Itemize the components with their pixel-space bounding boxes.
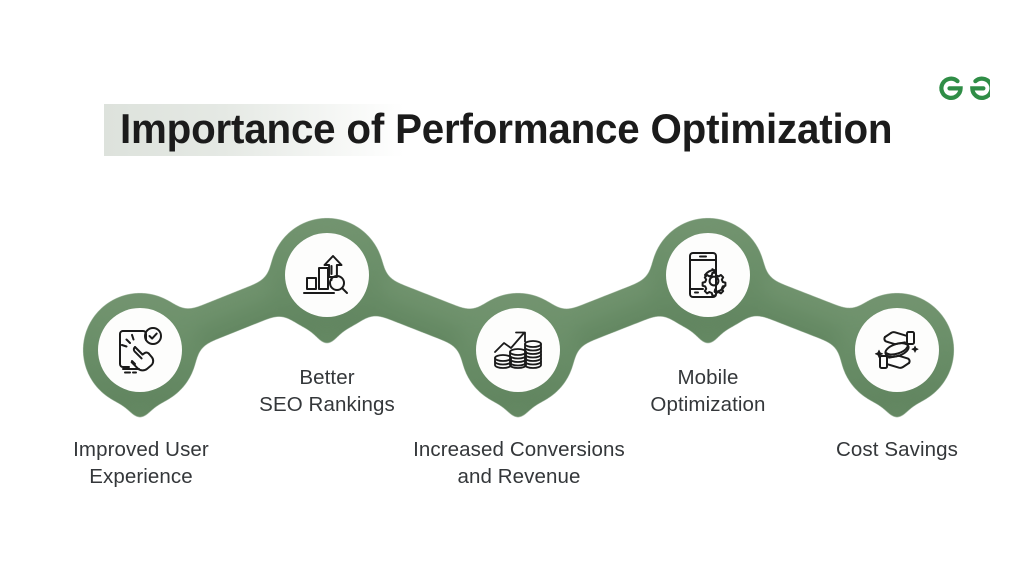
slide-canvas: Importance of Performance Optimization [0,0,1024,576]
node-label-improved-user-experience: Improved User Experience [26,436,256,490]
node-label-better-seo-rankings: Better SEO Rankings [212,364,442,418]
page-title: Importance of Performance Optimization [104,104,894,156]
geeksforgeeks-logo [934,68,990,104]
node-label-mobile-optimization: Mobile Optimization [593,364,823,418]
page-title-text: Importance of Performance Optimization [120,103,892,155]
node-label-increased-conversions-and-revenue: Increased Conversions and Revenue [383,436,655,490]
node-label-cost-savings: Cost Savings [787,436,1007,463]
process-chain-diagram [0,180,1024,440]
